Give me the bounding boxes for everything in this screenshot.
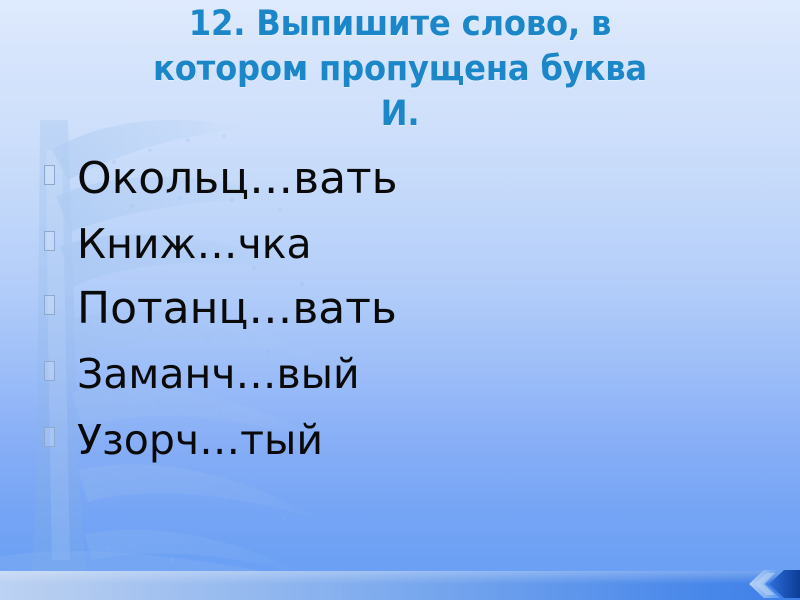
word-list: Окольц…вать Книж…чка Потанц…вать Заманч……	[44, 147, 744, 473]
footer-band-sheen	[0, 571, 800, 584]
footer-band	[0, 571, 800, 600]
list-item-label: Окольц…вать	[77, 147, 398, 211]
tofu-box-bullet-icon	[44, 231, 55, 251]
list-item: Книж…чка	[44, 211, 744, 277]
list-item-label: Заманч…вый	[77, 341, 360, 407]
list-item-label: Узорч…тый	[77, 407, 323, 473]
tofu-box-bullet-icon	[44, 165, 55, 185]
tofu-box-bullet-icon	[44, 295, 55, 315]
list-item: Окольц…вать	[44, 147, 744, 211]
title-line-2: котором пропущена буква	[32, 47, 768, 92]
tofu-box-bullet-icon	[44, 361, 55, 381]
list-item-label: Потанц…вать	[77, 277, 397, 341]
tofu-box-bullet-icon	[44, 427, 55, 447]
title-line-1: 12. Выпишите слово, в	[32, 2, 768, 47]
list-item-label: Книж…чка	[77, 211, 312, 277]
list-item: Узорч…тый	[44, 407, 744, 473]
list-item: Потанц…вать	[44, 277, 744, 341]
list-item: Заманч…вый	[44, 341, 744, 407]
slide-title: 12. Выпишите слово, в котором пропущена …	[32, 2, 768, 137]
presentation-slide: 12. Выпишите слово, в котором пропущена …	[0, 0, 800, 600]
double-chevron-left-icon[interactable]	[734, 568, 800, 600]
title-line-3: И.	[32, 92, 768, 137]
